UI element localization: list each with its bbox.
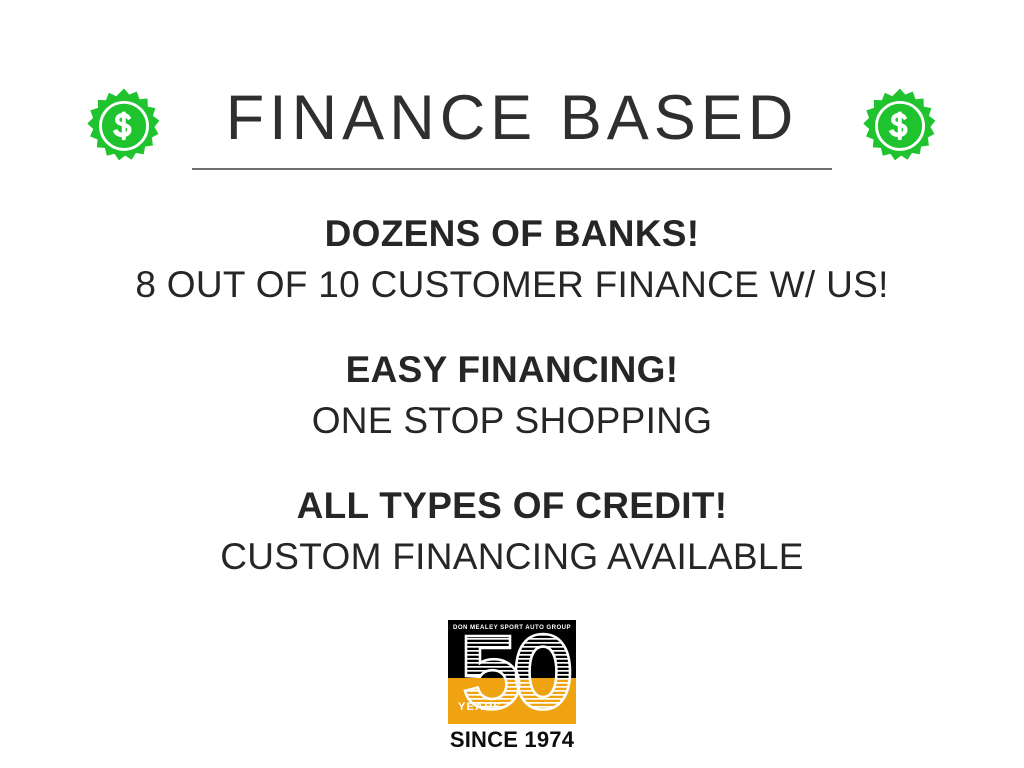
logo-years-label: YEARS — [458, 701, 502, 713]
coin-gear-dollar-icon — [82, 86, 166, 170]
slide-canvas: FINANCE BASED DOZENS OF BANKS! 8 OUT OF … — [0, 0, 1024, 768]
logo-badge: DON MEALEY SPORT AUTO GROUP — [448, 620, 576, 724]
copy-block: DOZENS OF BANKS! 8 OUT OF 10 CUSTOMER FI… — [0, 208, 1024, 310]
copy-block: ALL TYPES OF CREDIT! CUSTOM FINANCING AV… — [0, 480, 1024, 582]
slide-header: FINANCE BASED — [0, 78, 1024, 178]
copy-headline: DOZENS OF BANKS! — [0, 208, 1024, 259]
logo-brand-text: DON MEALEY SPORT AUTO GROUP — [448, 624, 576, 631]
copy-headline: EASY FINANCING! — [0, 344, 1024, 395]
copy-headline: ALL TYPES OF CREDIT! — [0, 480, 1024, 531]
title-divider — [192, 168, 832, 170]
body-copy: DOZENS OF BANKS! 8 OUT OF 10 CUSTOMER FI… — [0, 208, 1024, 582]
page-title: FINANCE BASED — [226, 86, 799, 152]
logo-since-text: SINCE 1974 — [450, 727, 574, 753]
title-group: FINANCE BASED — [188, 86, 836, 170]
dealer-logo: DON MEALEY SPORT AUTO GROUP — [448, 620, 576, 753]
copy-subline: CUSTOM FINANCING AVAILABLE — [0, 531, 1024, 582]
copy-subline: ONE STOP SHOPPING — [0, 395, 1024, 446]
copy-subline: 8 OUT OF 10 CUSTOMER FINANCE W/ US! — [0, 259, 1024, 310]
coin-gear-dollar-icon — [858, 86, 942, 170]
copy-block: EASY FINANCING! ONE STOP SHOPPING — [0, 344, 1024, 446]
